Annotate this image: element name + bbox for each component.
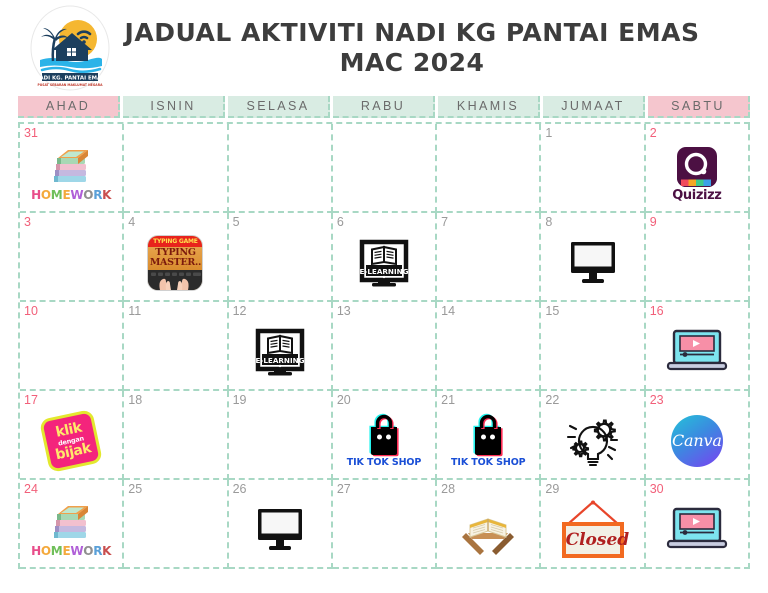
day-number: 1: [545, 127, 639, 140]
day-number: 19: [233, 394, 327, 407]
calendar-day-cell[interactable]: 16: [646, 302, 750, 391]
day-number: 25: [128, 483, 222, 496]
tiktok-shop-bag-icon: [466, 413, 510, 457]
video-laptop-icon: [666, 506, 728, 554]
day-number: 24: [24, 483, 118, 496]
day-header-isnin: ISNIN: [123, 96, 225, 118]
page-title: JADUAL AKTIVITI NADI KG PANTAI EMAS: [114, 18, 710, 48]
idea-lightbulb-gear-icon: [564, 414, 622, 468]
calendar-day-cell[interactable]: 21 TIK TOK SHOP: [437, 391, 541, 480]
calendar-day-cell[interactable]: 30: [646, 480, 750, 569]
day-header-sabtu: SABTU: [648, 96, 750, 118]
activity-homework[interactable]: HOMEWORK: [20, 138, 122, 209]
calendar-page: NADI KG. PANTAI EMAS PUSAT SEBARAN MAKLU…: [0, 0, 768, 593]
calendar-day-cell[interactable]: 9: [646, 213, 750, 302]
calendar-day-cell[interactable]: 5: [229, 213, 333, 302]
stacked-books-icon: [48, 146, 94, 188]
month-title: MAC 2024: [114, 47, 710, 78]
day-number: 22: [545, 394, 639, 407]
activity-tiktok-shop[interactable]: TIK TOK SHOP: [437, 405, 539, 476]
activity-typing-master[interactable]: TYPING GAME TYPING MASTER..: [124, 227, 226, 298]
day-number: 26: [233, 483, 327, 496]
closed-sign-icon: Closed: [560, 500, 626, 560]
activity-e-learning[interactable]: E-LEARNING: [333, 227, 435, 298]
typing-game-banner: TYPING GAME: [148, 236, 202, 247]
computer-monitor-icon: [253, 505, 307, 555]
calendar-day-cell[interactable]: 13: [333, 302, 437, 391]
day-number: 12: [233, 305, 327, 318]
day-header-rabu: RABU: [333, 96, 435, 118]
calendar-empty-cell[interactable]: [333, 124, 437, 213]
activity-quizizz[interactable]: Quizizz: [646, 138, 748, 209]
e-learning-monitor-icon: E-LEARNING: [357, 236, 411, 290]
day-number: 28: [441, 483, 535, 496]
day-number: 11: [128, 305, 222, 318]
quran-rehal-icon: [458, 503, 518, 557]
canva-icon: Canva: [671, 415, 723, 467]
typing-master-icon: TYPING GAME TYPING MASTER..: [147, 235, 203, 291]
day-number: 13: [337, 305, 431, 318]
quizizz-label: Quizizz: [672, 189, 721, 202]
day-number: 5: [233, 216, 327, 229]
day-number: 7: [441, 216, 535, 229]
calendar-day-cell[interactable]: 1: [541, 124, 645, 213]
activity-video-laptop[interactable]: [646, 494, 748, 565]
calendar-day-cell[interactable]: 20 TIK TOK SHOP: [333, 391, 437, 480]
activity-monitor[interactable]: [229, 494, 331, 565]
day-number: 30: [650, 483, 744, 496]
calendar-day-cell[interactable]: 18: [124, 391, 228, 480]
svg-text:E-LEARNING: E-LEARNING: [255, 355, 304, 364]
calendar-day-cell[interactable]: 31 HOMEWORK: [20, 124, 124, 213]
day-number: 18: [128, 394, 222, 407]
day-number: 17: [24, 394, 118, 407]
calendar-day-cell[interactable]: 4 TYPING GAME TYPING MASTER..: [124, 213, 228, 302]
calendar-day-cell[interactable]: 7: [437, 213, 541, 302]
calendar-day-cell[interactable]: 15: [541, 302, 645, 391]
day-number: 31: [24, 127, 118, 140]
calendar-header: NADI KG. PANTAI EMAS PUSAT SEBARAN MAKLU…: [18, 0, 750, 96]
logo-secondary-text: PUSAT SEBARAN MAKLUMAT NEGARA: [38, 83, 104, 87]
day-number: 9: [650, 216, 744, 229]
e-learning-monitor-icon: E-LEARNING: [253, 325, 307, 379]
day-number: 29: [545, 483, 639, 496]
calendar-day-cell[interactable]: 17 klik dengan bijak: [20, 391, 124, 480]
calendar-day-cell[interactable]: 28: [437, 480, 541, 569]
day-number: 21: [441, 394, 535, 407]
calendar-day-cell[interactable]: 10: [20, 302, 124, 391]
day-number: 20: [337, 394, 431, 407]
activity-canva[interactable]: Canva: [646, 405, 748, 476]
day-number: 3: [24, 216, 118, 229]
video-laptop-icon: [666, 328, 728, 376]
day-number: 10: [24, 305, 118, 318]
calendar-empty-cell[interactable]: [229, 124, 333, 213]
calendar-day-cell[interactable]: 24 HOMEWORK: [20, 480, 124, 569]
computer-monitor-icon: [566, 238, 620, 288]
activity-quran-rehal[interactable]: [437, 494, 539, 565]
tiktok-shop-label: TIK TOK SHOP: [451, 458, 526, 468]
homework-label: HOMEWORK: [31, 545, 111, 557]
title-block: JADUAL AKTIVITI NADI KG PANTAI EMAS MAC …: [114, 18, 750, 79]
activity-tiktok-shop[interactable]: TIK TOK SHOP: [333, 405, 435, 476]
day-number: 14: [441, 305, 535, 318]
svg-text:E-LEARNING: E-LEARNING: [359, 266, 408, 275]
day-number: 16: [650, 305, 744, 318]
calendar-day-cell[interactable]: 2 Quizizz: [646, 124, 750, 213]
day-number: 15: [545, 305, 639, 318]
day-number: 4: [128, 216, 222, 229]
stacked-books-icon: [48, 502, 94, 544]
calendar-day-cell[interactable]: 11: [124, 302, 228, 391]
calendar-day-cell[interactable]: 25: [124, 480, 228, 569]
day-header-ahad: AHAD: [18, 96, 120, 118]
day-header-jumaat: JUMAAT: [543, 96, 645, 118]
calendar-day-cell[interactable]: 27: [333, 480, 437, 569]
day-header-selasa: SELASA: [228, 96, 330, 118]
activity-homework[interactable]: HOMEWORK: [20, 494, 122, 565]
calendar-day-cell[interactable]: 14: [437, 302, 541, 391]
day-number: 8: [545, 216, 639, 229]
day-header-khamis: KHAMIS: [438, 96, 540, 118]
day-number: 27: [337, 483, 431, 496]
typing-master-line2: MASTER..: [150, 258, 201, 268]
day-header-row: AHADISNINSELASARABUKHAMISJUMAATSABTU: [18, 96, 750, 118]
calendar-empty-cell[interactable]: [437, 124, 541, 213]
nadi-kg-pantai-emas-logo: NADI KG. PANTAI EMAS PUSAT SEBARAN MAKLU…: [26, 4, 114, 92]
calendar-grid: 31 HOMEWORK12 Quizizz34 TYPING GAME TYPI…: [18, 122, 750, 569]
quizizz-icon: [676, 146, 718, 188]
activity-monitor[interactable]: [541, 227, 643, 298]
day-number: 23: [650, 394, 744, 407]
calendar-day-cell[interactable]: 23 Canva: [646, 391, 750, 480]
calendar-day-cell[interactable]: 22: [541, 391, 645, 480]
day-number: 2: [650, 127, 744, 140]
calendar-day-cell[interactable]: 29 Closed: [541, 480, 645, 569]
logo-primary-text: NADI KG. PANTAI EMAS: [35, 75, 105, 81]
klik-dengan-bijak-icon: klik dengan bijak: [39, 408, 103, 472]
activity-closed-sign[interactable]: Closed: [541, 494, 643, 565]
day-number: 6: [337, 216, 431, 229]
calendar-day-cell[interactable]: 8: [541, 213, 645, 302]
calendar-day-cell[interactable]: 26: [229, 480, 333, 569]
canva-label: Canva: [672, 431, 722, 450]
activity-e-learning[interactable]: E-LEARNING: [229, 316, 331, 387]
tiktok-shop-label: TIK TOK SHOP: [347, 458, 422, 468]
closed-sign-label: Closed: [566, 526, 620, 554]
activity-klik-bijak[interactable]: klik dengan bijak: [20, 405, 122, 476]
activity-video-laptop[interactable]: [646, 316, 748, 387]
calendar-day-cell[interactable]: 6 E-LEARNING: [333, 213, 437, 302]
homework-label: HOMEWORK: [31, 189, 111, 201]
calendar-day-cell[interactable]: 19: [229, 391, 333, 480]
calendar-empty-cell[interactable]: [124, 124, 228, 213]
calendar-day-cell[interactable]: 12 E-LEARNING: [229, 302, 333, 391]
tiktok-shop-bag-icon: [362, 413, 406, 457]
calendar-day-cell[interactable]: 3: [20, 213, 124, 302]
activity-idea-gear[interactable]: [541, 405, 643, 476]
